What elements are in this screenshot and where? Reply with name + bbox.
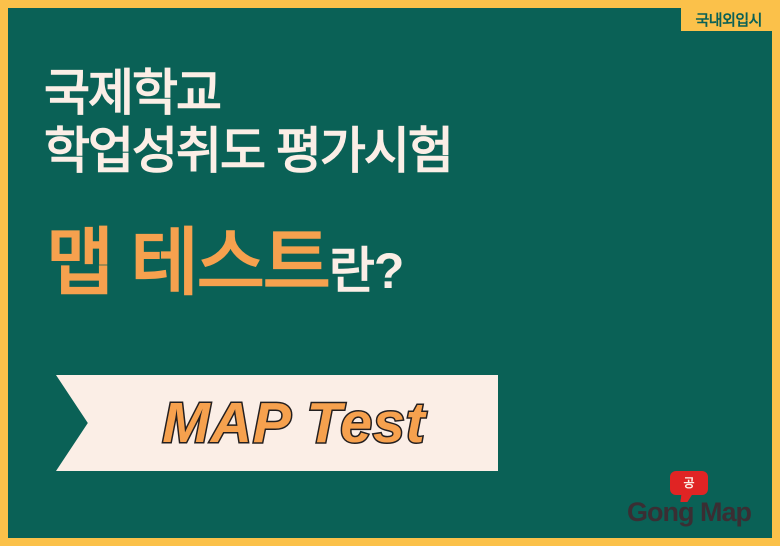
subtitle-highlight: 맵 테스트 (46, 221, 329, 304)
poster-panel: 국내외입시 국제학교 학업성취도 평가시험 맵 테스트란? MAP Test 공… (8, 8, 772, 538)
subtitle: 맵 테스트란? (46, 226, 403, 300)
ribbon-banner: MAP Test (56, 375, 498, 471)
poster: 국내외입시 국제학교 학업성취도 평가시험 맵 테스트란? MAP Test 공… (0, 0, 780, 546)
category-badge: 국내외입시 (681, 8, 772, 31)
ribbon-label: MAP Test (162, 390, 425, 456)
page-title: 국제학교 학업성취도 평가시험 (44, 64, 452, 180)
subtitle-suffix: 란? (329, 243, 404, 299)
brand-logo: 공 Gong Map (624, 471, 754, 526)
speech-bubble-label: 공 (683, 477, 694, 489)
brand-wordmark: Gong Map (624, 499, 754, 526)
headline-line-2: 학업성취도 평가시험 (44, 122, 452, 180)
headline-line-1: 국제학교 (44, 64, 452, 122)
speech-bubble-icon: 공 (670, 471, 708, 495)
